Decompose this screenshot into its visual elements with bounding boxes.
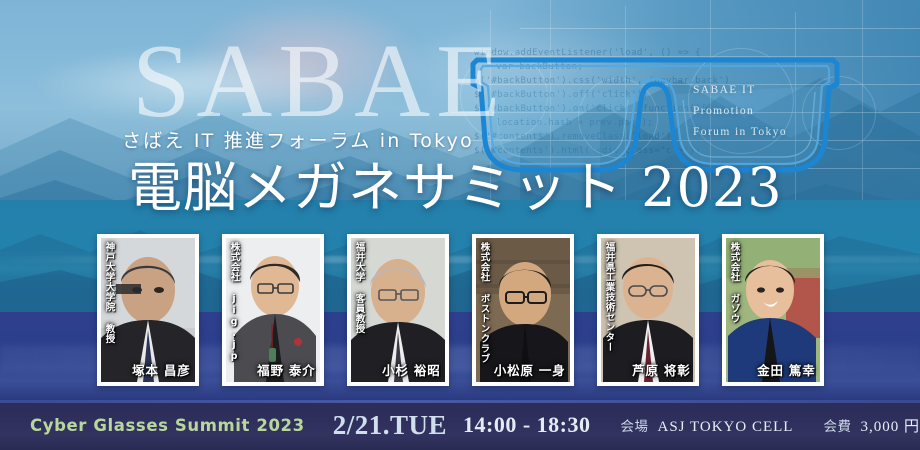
fee-group: 会費 3,000 円 xyxy=(823,415,920,436)
footer-top-edge xyxy=(0,400,920,403)
event-poster: window.addEventListener('load', () => { … xyxy=(0,0,920,450)
event-time: 14:00 - 18:30 xyxy=(463,412,590,438)
lens-line-3: Forum in Tokyo xyxy=(693,122,843,143)
speaker-photo: 神戸大学大学院 教授 塚本 昌彦 xyxy=(101,238,195,382)
speaker-name: 小松原 一身 xyxy=(494,360,566,379)
lens-inscription: SABAE IT Promotion Forum in Tokyo xyxy=(693,80,843,143)
speaker-name: 芦原 将彰 xyxy=(632,360,690,379)
speaker-photo: 株式会社 jig.jp 福野 泰介 xyxy=(226,238,320,382)
fee-label: 会費 xyxy=(823,415,851,435)
speaker-card[interactable]: 神戸大学大学院 教授 塚本 昌彦 xyxy=(97,234,199,386)
speaker-card[interactable]: 福井大学 客員教授 小杉 裕昭 xyxy=(347,234,449,386)
speaker-name: 塚本 昌彦 xyxy=(132,360,190,379)
venue-value: ASJ TOKYO CELL xyxy=(657,419,793,436)
speaker-card[interactable]: 株式会社 ボストンクラブ 小松原 一身 xyxy=(472,234,574,386)
page-title: 電脳メガネサミット 2023 xyxy=(128,158,783,218)
speaker-photo: 福井県工業技術センター 芦原 将彰 xyxy=(601,238,695,382)
speaker-affiliation: 株式会社 ガゾウ xyxy=(729,242,740,324)
speaker-photo: 株式会社 ボストンクラブ 小松原 一身 xyxy=(476,238,570,382)
speaker-name: 福野 泰介 xyxy=(257,360,315,379)
speaker-affiliation: 福井県工業技術センター xyxy=(604,242,615,352)
english-title: Cyber Glasses Summit 2023 xyxy=(30,416,305,435)
speaker-card[interactable]: 株式会社 jig.jp 福野 泰介 xyxy=(222,234,324,386)
speaker-photo: 福井大学 客員教授 小杉 裕昭 xyxy=(351,238,445,382)
lens-line-1: SABAE IT xyxy=(693,80,843,101)
venue-group: 会場 ASJ TOKYO CELL xyxy=(620,415,793,436)
sabae-wordmark: SABAE xyxy=(132,28,506,133)
speaker-affiliation: 株式会社 jig.jp xyxy=(229,242,240,363)
speaker-affiliation: 株式会社 ボストンクラブ xyxy=(479,242,490,364)
event-date: 2/21.TUE xyxy=(333,410,447,441)
speaker-name: 小杉 裕昭 xyxy=(382,360,440,379)
speaker-card[interactable]: 株式会社 ガゾウ 金田 篤幸 xyxy=(722,234,824,386)
speaker-list: 神戸大学大学院 教授 塚本 昌彦 xyxy=(0,234,920,392)
fee-value: 3,000 円 xyxy=(860,415,920,436)
speaker-affiliation: 神戸大学大学院 教授 xyxy=(104,242,115,344)
speaker-affiliation: 福井大学 客員教授 xyxy=(354,242,365,334)
event-details-bar: Cyber Glasses Summit 2023 2/21.TUE 14:00… xyxy=(0,400,920,450)
lens-line-2: Promotion xyxy=(693,101,843,122)
venue-label: 会場 xyxy=(620,415,648,435)
speaker-name: 金田 篤幸 xyxy=(757,360,815,379)
speaker-card[interactable]: 福井県工業技術センター 芦原 将彰 xyxy=(597,234,699,386)
speaker-photo: 株式会社 ガゾウ 金田 篤幸 xyxy=(726,238,820,382)
forum-subtitle: さばえ IT 推進フォーラム in Tokyo xyxy=(122,126,474,153)
